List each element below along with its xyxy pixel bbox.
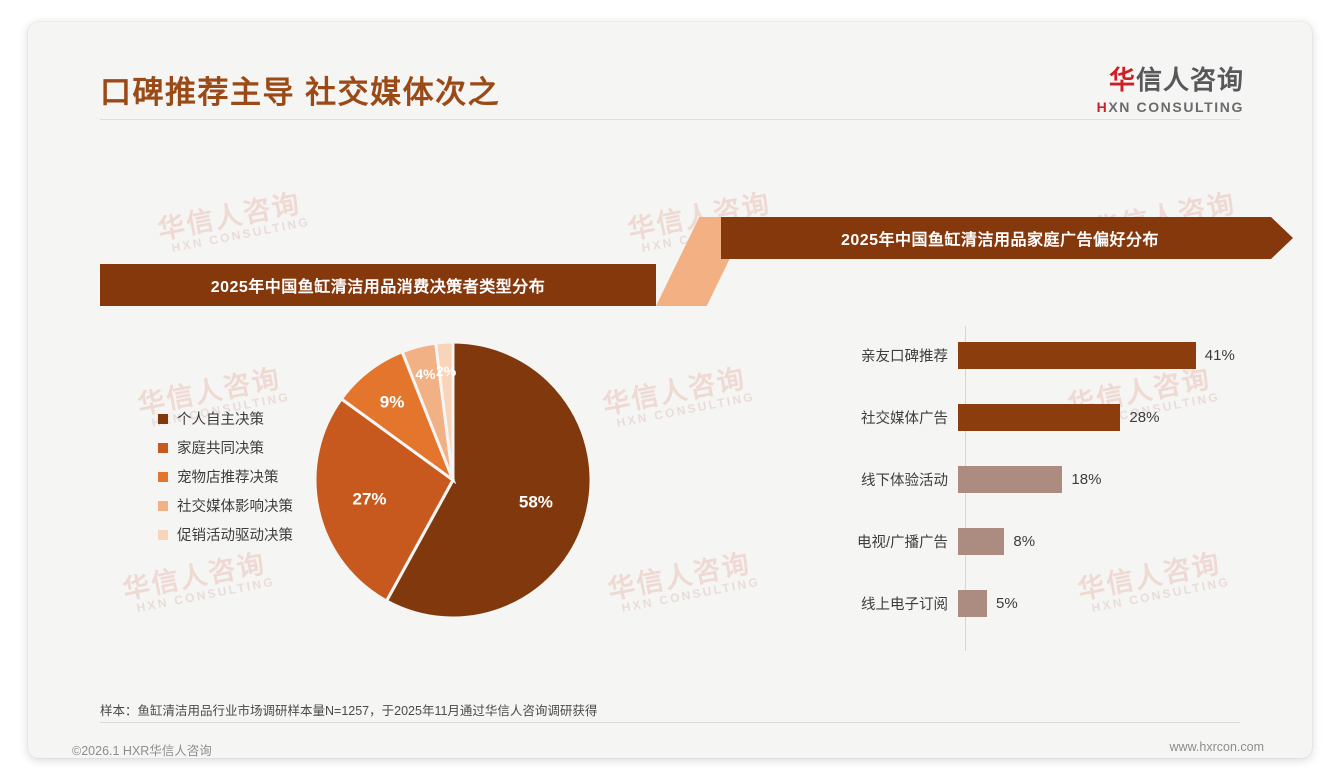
chart-banner-right-label: 2025年中国鱼缸清洁用品家庭广告偏好分布 <box>841 226 1173 250</box>
pie-slice-label: 4% <box>415 366 436 382</box>
pie-legend-swatch <box>158 472 168 482</box>
chart-banner-left-label: 2025年中国鱼缸清洁用品消费决策者类型分布 <box>211 273 546 297</box>
pie-legend-item[interactable]: 促销活动驱动决策 <box>158 520 293 549</box>
logo-en-accent: H <box>1097 99 1109 115</box>
footer-divider <box>100 722 1240 723</box>
header-divider <box>100 119 1240 120</box>
bar-fill[interactable] <box>958 404 1120 431</box>
bar-value-label: 8% <box>1013 533 1035 550</box>
bar-chart-row[interactable]: 社交媒体广告28% <box>818 402 1288 432</box>
bar-fill[interactable] <box>958 342 1196 369</box>
bar-chart-row[interactable]: 线上电子订阅5% <box>818 588 1288 618</box>
pie-slice-label: 2% <box>436 363 457 379</box>
pie-legend-label: 家庭共同决策 <box>177 437 264 458</box>
slide-canvas: 华信人咨询 HXN CONSULTING 华信人咨询 HXN CONSULTIN… <box>28 22 1312 758</box>
bar-value-label: 18% <box>1071 471 1101 488</box>
brand-logo: 华信人咨询 HXN CONSULTING <box>1097 60 1244 115</box>
bar-fill[interactable] <box>958 466 1062 493</box>
pie-legend-swatch <box>158 414 168 424</box>
chart-banner-right: 2025年中国鱼缸清洁用品家庭广告偏好分布 <box>721 217 1293 259</box>
watermark-en: HXN CONSULTING <box>171 216 312 255</box>
bar-chart-row[interactable]: 电视/广播广告8% <box>818 526 1288 556</box>
bar-category-label: 电视/广播广告 <box>818 531 958 552</box>
pie-legend-label: 宠物店推荐决策 <box>177 466 279 487</box>
footer-copyright: ©2026.1 HXR华信人咨询 <box>72 740 212 758</box>
pie-chart-panel: 个人自主决策家庭共同决策宠物店推荐决策社交媒体影响决策促销活动驱动决策 58%2… <box>88 322 688 652</box>
pie-legend-label: 促销活动驱动决策 <box>177 524 293 545</box>
pie-slice-label: 58% <box>519 492 553 511</box>
pie-legend-swatch <box>158 501 168 511</box>
pie-legend-item[interactable]: 社交媒体影响决策 <box>158 491 293 520</box>
footer-website: www.hxrcon.com <box>1170 740 1264 754</box>
pie-legend-item[interactable]: 个人自主决策 <box>158 404 293 433</box>
pie-legend-item[interactable]: 宠物店推荐决策 <box>158 462 293 491</box>
pie-legend-label: 个人自主决策 <box>177 408 264 429</box>
bar-category-label: 社交媒体广告 <box>818 407 958 428</box>
logo-rest-chars: 信人咨询 <box>1136 65 1244 95</box>
bar-track: 5% <box>958 590 1288 617</box>
pie-chart: 58%27%9%4%2% <box>313 340 593 620</box>
pie-chart-svg: 58%27%9%4%2% <box>313 340 593 620</box>
slide-header: 口碑推荐主导 社交媒体次之 华信人咨询 HXN CONSULTING <box>28 22 1312 122</box>
logo-en-rest: XN CONSULTING <box>1108 99 1244 115</box>
bar-track: 28% <box>958 404 1288 431</box>
sample-note: 样本：鱼缸清洁用品行业市场调研样本量N=1257，于2025年11月通过华信人咨… <box>100 700 597 719</box>
bar-track: 18% <box>958 466 1288 493</box>
chart-banner-left: 2025年中国鱼缸清洁用品消费决策者类型分布 <box>100 264 656 306</box>
bar-category-label: 亲友口碑推荐 <box>818 345 958 366</box>
bar-category-label: 线下体验活动 <box>818 469 958 490</box>
bar-fill[interactable] <box>958 590 987 617</box>
bar-chart-row[interactable]: 亲友口碑推荐41% <box>818 340 1288 370</box>
bar-track: 41% <box>958 342 1288 369</box>
logo-accent-char: 华 <box>1109 65 1136 95</box>
pie-legend-swatch <box>158 530 168 540</box>
pie-slice-label: 9% <box>380 393 405 412</box>
bar-category-label: 线上电子订阅 <box>818 593 958 614</box>
bar-track: 8% <box>958 528 1288 555</box>
bar-value-label: 5% <box>996 595 1018 612</box>
page-title: 口碑推荐主导 社交媒体次之 <box>100 67 500 112</box>
pie-legend-label: 社交媒体影响决策 <box>177 495 293 516</box>
bar-chart-row[interactable]: 线下体验活动18% <box>818 464 1288 494</box>
bar-fill[interactable] <box>958 528 1004 555</box>
pie-legend-swatch <box>158 443 168 453</box>
bar-value-label: 41% <box>1205 347 1235 364</box>
watermark: 华信人咨询 HXN CONSULTING <box>155 188 311 257</box>
pie-slice-label: 27% <box>352 490 386 509</box>
logo-chinese-text: 华信人咨询 <box>1097 60 1244 97</box>
pie-legend: 个人自主决策家庭共同决策宠物店推荐决策社交媒体影响决策促销活动驱动决策 <box>158 404 293 549</box>
bar-value-label: 28% <box>1129 409 1159 426</box>
pie-legend-item[interactable]: 家庭共同决策 <box>158 433 293 462</box>
bar-chart-panel: 亲友口碑推荐41%社交媒体广告28%线下体验活动18%电视/广播广告8%线上电子… <box>818 322 1288 657</box>
watermark-cn: 华信人咨询 <box>155 188 308 245</box>
logo-english-text: HXN CONSULTING <box>1097 99 1244 115</box>
